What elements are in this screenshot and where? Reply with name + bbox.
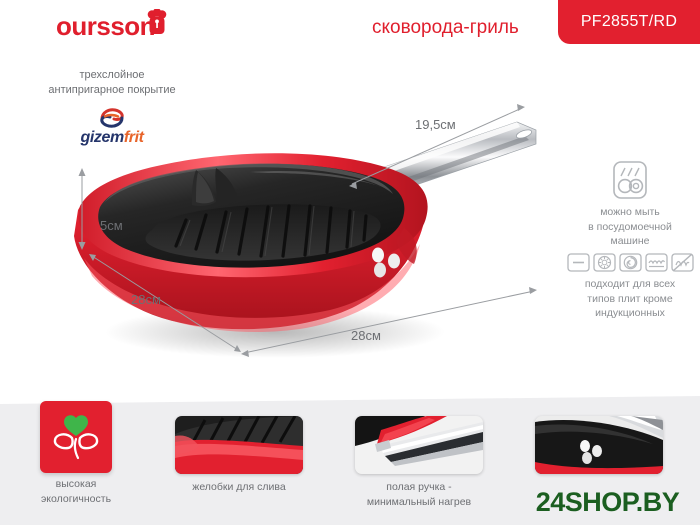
stove-icon-row (560, 253, 700, 272)
ceramic-hob-icon (619, 253, 642, 272)
induction-crossed-icon (671, 253, 694, 272)
gas-burner-icon (593, 253, 616, 272)
dimension-handle-label: 19,5см (415, 117, 456, 132)
dimension-width-front-label: 28см (351, 328, 381, 343)
site-watermark: 24SHOP.BY (520, 487, 695, 518)
dishwasher-safe-icon (608, 160, 652, 200)
caption-line: высокая (20, 477, 132, 492)
eco-badge[interactable] (40, 401, 112, 473)
eco-clover-heart-icon (50, 412, 102, 462)
thumbnail-handle[interactable] (355, 416, 483, 474)
caption-line: можно мыть (562, 205, 698, 220)
thumbnail-interior[interactable] (535, 416, 663, 474)
dimension-height-label: 5см (100, 218, 123, 233)
eco-caption: высокая экологичность (20, 477, 132, 506)
thumbnail-spout[interactable] (175, 416, 303, 474)
thumbnail-handle-image (355, 416, 483, 474)
feature-stove-caption: подходит для всех типов плит кроме индук… (560, 277, 700, 321)
electric-plate-icon (567, 253, 590, 272)
caption-line: экологичность (20, 492, 132, 507)
halogen-hob-icon (645, 253, 668, 272)
product-infographic-page: oursson сковорода-гриль PF2855T/RD трехс… (0, 0, 700, 525)
caption-line: желобки для слива (153, 480, 325, 495)
feature-dishwasher: можно мыть в посудомоечной машине (562, 160, 698, 249)
page-title: сковорода-гриль (372, 17, 519, 39)
caption-line: индукционных (560, 306, 700, 321)
caption-line: типов плит кроме (560, 292, 700, 307)
thumbnail-spout-image (175, 416, 303, 474)
thumbnail-spout-caption: желобки для слива (153, 480, 325, 495)
thumbnail-handle-caption: полая ручка - минимальный нагрев (333, 480, 505, 510)
caption-line: подходит для всех (560, 277, 700, 292)
feature-stove-types: подходит для всех типов плит кроме индук… (560, 253, 700, 321)
dimension-width-left-label: 28см (131, 292, 161, 307)
feature-dishwasher-caption: можно мыть в посудомоечной машине (562, 205, 698, 249)
brand-logo: oursson (56, 13, 155, 39)
thumbnail-interior-image (535, 416, 663, 474)
header: oursson сковорода-гриль PF2855T/RD (0, 0, 700, 50)
caption-line: машине (562, 234, 698, 249)
caption-line: полая ручка - (333, 480, 505, 495)
chef-hat-icon (146, 9, 168, 35)
caption-line: минимальный нагрев (333, 495, 505, 510)
caption-line: в посудомоечной (562, 220, 698, 235)
model-badge: PF2855T/RD (558, 0, 700, 44)
